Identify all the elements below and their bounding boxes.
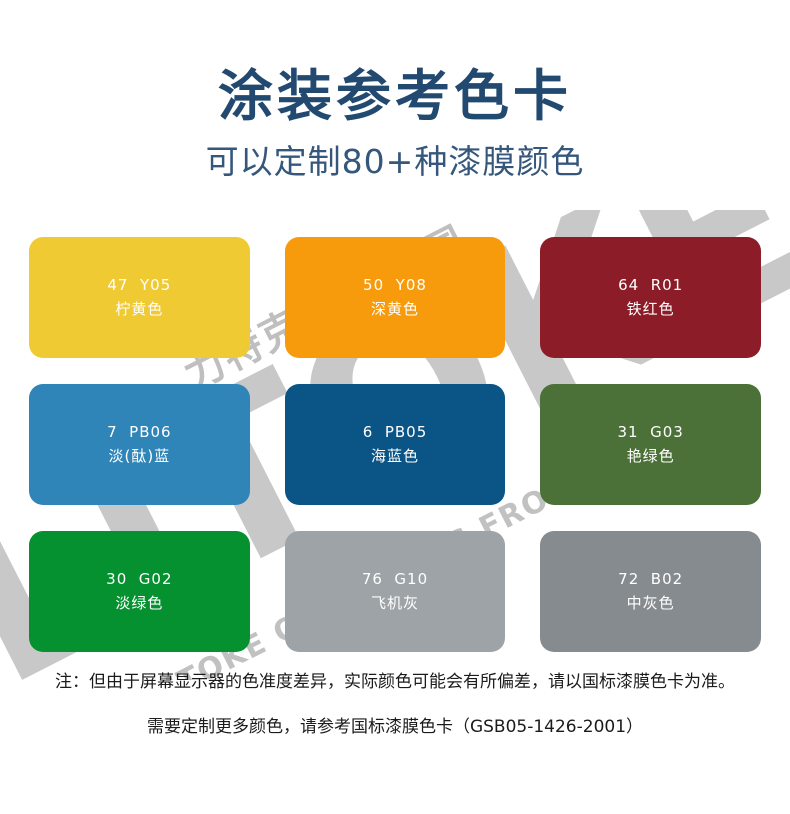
swatch-name: 飞机灰 [371,591,419,615]
swatch-code: 30 G02 [106,568,172,591]
color-swatch[interactable]: 50 Y08 深黄色 [285,237,506,358]
swatch-name: 海蓝色 [371,444,419,468]
swatch-code: 47 Y05 [107,274,171,297]
swatch-name: 铁红色 [627,297,675,321]
footer-notes: 注：但由于屏幕显示器的色准度差异，实际颜色可能会有所偏差，请以国标漆膜色卡为准。… [0,672,790,738]
color-swatch[interactable]: 30 G02 淡绿色 [29,531,250,652]
swatch-code: 31 G03 [617,421,683,444]
color-swatch[interactable]: 72 B02 中灰色 [540,531,761,652]
note-custom-colors: 需要定制更多颜色，请参考国标漆膜色卡（GSB05-1426-2001） [0,717,790,737]
color-swatch[interactable]: 76 G10 飞机灰 [285,531,506,652]
note-disclaimer: 注：但由于屏幕显示器的色准度差异，实际颜色可能会有所偏差，请以国标漆膜色卡为准。 [0,672,790,692]
swatch-code: 76 G10 [362,568,428,591]
swatch-code: 6 PB05 [363,421,428,444]
page-subtitle: 可以定制80+种漆膜颜色 [0,144,790,180]
swatch-name: 淡(酞)蓝 [108,444,170,468]
swatch-name: 艳绿色 [627,444,675,468]
page-title: 涂装参考色卡 [0,68,790,126]
swatch-name: 柠黄色 [115,297,163,321]
color-card-page: 涂装参考色卡 可以定制80+种漆膜颜色 LITOKE LITOKE ORIGIN… [0,0,790,814]
color-swatch-grid: 47 Y05 柠黄色 50 Y08 深黄色 64 R01 铁红色 7 PB06 … [29,237,761,652]
swatch-code: 72 B02 [618,568,683,591]
swatch-name: 中灰色 [627,591,675,615]
swatch-code: 64 R01 [618,274,683,297]
swatch-code: 7 PB06 [107,421,172,444]
color-swatch[interactable]: 64 R01 铁红色 [540,237,761,358]
color-swatch[interactable]: 31 G03 艳绿色 [540,384,761,505]
swatch-name: 淡绿色 [115,591,163,615]
color-swatch[interactable]: 7 PB06 淡(酞)蓝 [29,384,250,505]
color-swatch[interactable]: 6 PB05 海蓝色 [285,384,506,505]
page-header: 涂装参考色卡 可以定制80+种漆膜颜色 [0,0,790,180]
swatch-code: 50 Y08 [363,274,427,297]
swatch-name: 深黄色 [371,297,419,321]
color-swatch[interactable]: 47 Y05 柠黄色 [29,237,250,358]
